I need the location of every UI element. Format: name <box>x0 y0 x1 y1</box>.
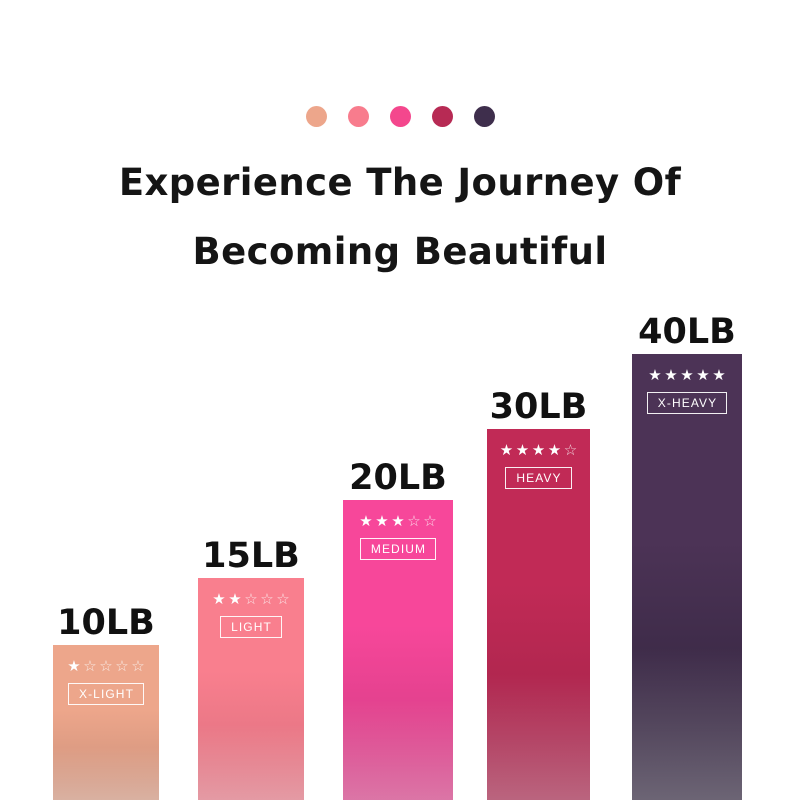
star-empty-icon: ☆ <box>423 514 438 529</box>
star-filled-icon: ★ <box>531 443 546 458</box>
bar-level-label: MEDIUM <box>360 538 436 560</box>
star-filled-icon: ★ <box>375 514 390 529</box>
star-filled-icon: ★ <box>515 443 530 458</box>
bar-badge: ★★★★★X-HEAVY <box>632 368 742 414</box>
star-rating: ★☆☆☆☆ <box>67 659 146 674</box>
star-empty-icon: ☆ <box>131 659 146 674</box>
star-filled-icon: ★ <box>696 368 711 383</box>
bar-bottom-fade <box>198 725 304 800</box>
bar-body[interactable]: ★★★★★X-HEAVY <box>632 354 742 800</box>
resistance-bar-chart: 10LB★☆☆☆☆X-LIGHT15LB★★☆☆☆LIGHT20LB★★★☆☆M… <box>0 0 800 800</box>
star-filled-icon: ★ <box>712 368 727 383</box>
star-empty-icon: ☆ <box>115 659 130 674</box>
star-rating: ★★★★☆ <box>499 443 578 458</box>
bar-group-light[interactable]: 15LB★★☆☆☆LIGHT <box>198 578 304 800</box>
bar-weight-label: 10LB <box>53 601 159 645</box>
star-empty-icon: ☆ <box>563 443 578 458</box>
star-empty-icon: ☆ <box>83 659 98 674</box>
bar-level-label: X-LIGHT <box>68 683 144 705</box>
bar-bottom-fade <box>632 648 742 800</box>
bar-group-medium[interactable]: 20LB★★★☆☆MEDIUM <box>343 500 453 800</box>
star-rating: ★★★☆☆ <box>359 514 438 529</box>
bar-badge: ★☆☆☆☆X-LIGHT <box>53 659 159 705</box>
star-rating: ★★★★★ <box>648 368 727 383</box>
star-filled-icon: ★ <box>680 368 695 383</box>
bar-weight-label: 20LB <box>343 456 453 500</box>
bar-badge: ★★☆☆☆LIGHT <box>198 592 304 638</box>
star-filled-icon: ★ <box>499 443 514 458</box>
bar-body[interactable]: ★☆☆☆☆X-LIGHT <box>53 645 159 800</box>
star-filled-icon: ★ <box>391 514 406 529</box>
bar-group-x-heavy[interactable]: 40LB★★★★★X-HEAVY <box>632 354 742 800</box>
bar-weight-label: 40LB <box>632 310 742 354</box>
bar-body[interactable]: ★★★☆☆MEDIUM <box>343 500 453 800</box>
bar-bottom-fade <box>53 747 159 800</box>
bar-body[interactable]: ★★★★☆HEAVY <box>487 429 590 800</box>
bar-level-label: X-HEAVY <box>647 392 728 414</box>
star-empty-icon: ☆ <box>407 514 422 529</box>
bar-group-x-light[interactable]: 10LB★☆☆☆☆X-LIGHT <box>53 645 159 800</box>
star-empty-icon: ☆ <box>260 592 275 607</box>
bar-weight-label: 15LB <box>198 534 304 578</box>
star-filled-icon: ★ <box>359 514 374 529</box>
star-filled-icon: ★ <box>228 592 243 607</box>
bar-level-label: HEAVY <box>505 467 571 489</box>
bar-body[interactable]: ★★☆☆☆LIGHT <box>198 578 304 800</box>
bar-weight-label: 30LB <box>487 385 590 429</box>
bar-badge: ★★★★☆HEAVY <box>487 443 590 489</box>
bar-group-heavy[interactable]: 30LB★★★★☆HEAVY <box>487 429 590 800</box>
bar-bottom-fade <box>487 674 590 800</box>
star-rating: ★★☆☆☆ <box>212 592 291 607</box>
bar-level-label: LIGHT <box>220 616 282 638</box>
star-empty-icon: ☆ <box>276 592 291 607</box>
star-filled-icon: ★ <box>547 443 562 458</box>
star-filled-icon: ★ <box>212 592 227 607</box>
star-empty-icon: ☆ <box>244 592 259 607</box>
star-filled-icon: ★ <box>67 659 82 674</box>
star-empty-icon: ☆ <box>99 659 114 674</box>
star-filled-icon: ★ <box>648 368 663 383</box>
star-filled-icon: ★ <box>664 368 679 383</box>
bar-bottom-fade <box>343 698 453 800</box>
bar-badge: ★★★☆☆MEDIUM <box>343 514 453 560</box>
